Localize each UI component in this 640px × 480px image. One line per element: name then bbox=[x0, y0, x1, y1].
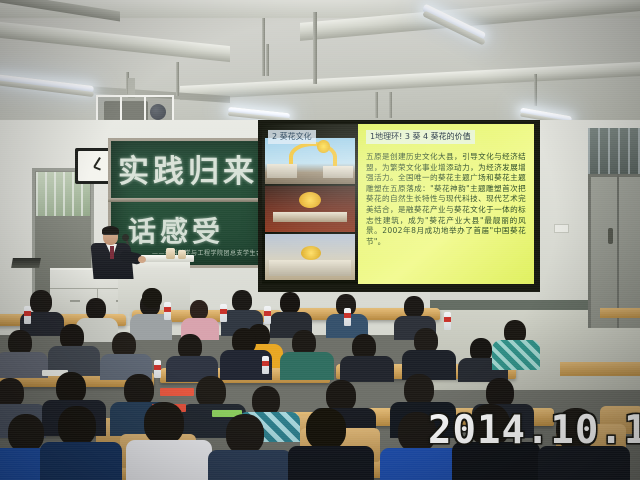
speaker-hand bbox=[138, 256, 146, 263]
slide-photo-1 bbox=[265, 138, 355, 184]
student-head bbox=[190, 300, 208, 320]
slide-photo-3 bbox=[265, 234, 355, 280]
student-torso bbox=[280, 352, 334, 380]
ceiling-rod-g bbox=[176, 62, 179, 96]
student-head bbox=[30, 290, 52, 314]
sunflower-disc-3 bbox=[301, 246, 321, 260]
student-head bbox=[226, 414, 264, 454]
slide-building-1 bbox=[267, 164, 297, 178]
blackboard-subhead: 话感受 bbox=[128, 210, 258, 248]
slide-body-text: 五原是创建历史文化大县，引导文化与经济结盟，为繁荣文化事业增添动力，为经济发展增… bbox=[366, 152, 526, 280]
slide-plinth-2 bbox=[273, 212, 347, 222]
classroom-photo: 实践归来 话感受 ——材料科学与工程学院团总支学生会 2 葵花文化 bbox=[0, 0, 640, 480]
slide-tab-culture: 2 葵花文化 bbox=[268, 130, 316, 144]
student-head bbox=[280, 292, 300, 314]
slide-tab-sections: 1地理环! 3 葵 4 葵花的价值 bbox=[366, 130, 475, 144]
water-bottle-5 bbox=[344, 308, 351, 326]
student-head bbox=[144, 402, 184, 444]
ceiling-rod-c bbox=[313, 12, 317, 84]
right-door-handle[interactable] bbox=[608, 228, 613, 244]
water-bottle-2 bbox=[164, 302, 171, 320]
student-head bbox=[404, 296, 424, 318]
water-bottle-3 bbox=[220, 304, 227, 322]
camera-datestamp: 2014.10.12 bbox=[428, 408, 640, 453]
clock-face bbox=[78, 151, 110, 181]
microphone-icon bbox=[122, 234, 129, 241]
slide-image-column bbox=[262, 124, 358, 284]
student-head bbox=[58, 406, 96, 446]
right-door-transom bbox=[588, 128, 640, 177]
clock-hour-hand bbox=[94, 166, 101, 170]
student-torso bbox=[126, 440, 212, 480]
water-bottle-6 bbox=[444, 312, 451, 330]
student-torso bbox=[208, 450, 292, 480]
light-switch[interactable] bbox=[554, 224, 569, 233]
blackboard-divider bbox=[108, 198, 272, 202]
glasses-icon bbox=[104, 234, 117, 238]
slide-building-2 bbox=[323, 166, 353, 178]
student-head bbox=[142, 288, 162, 308]
desk-laptop bbox=[11, 258, 41, 268]
projection-screen: 2 葵花文化 1地理环! 3 葵 4 葵花的价值 五原是创建历史文化大县，引导文… bbox=[262, 124, 534, 284]
student-torso bbox=[40, 442, 122, 480]
student-head bbox=[86, 298, 106, 320]
blackboard-headline: 实践归来 bbox=[118, 146, 264, 190]
speaker-tie bbox=[110, 246, 114, 259]
water-bottle-7 bbox=[154, 360, 161, 378]
ceiling-rod-d bbox=[375, 92, 378, 118]
water-bottle-8 bbox=[262, 356, 269, 374]
student-torso-plaid bbox=[492, 340, 540, 370]
sunflower-disc-1 bbox=[317, 140, 330, 153]
ceiling-rod-a bbox=[262, 18, 265, 76]
student-head bbox=[306, 408, 346, 450]
sunflower-disc-2 bbox=[299, 192, 321, 208]
ceiling-rod-f bbox=[534, 74, 537, 106]
podium-cup-2 bbox=[178, 250, 186, 259]
textbook-red-2 bbox=[160, 388, 194, 396]
aisle-rail-2 bbox=[560, 362, 640, 376]
water-bottle-1 bbox=[24, 306, 31, 324]
student-head bbox=[232, 290, 252, 312]
ceiling-rod-e bbox=[389, 92, 392, 118]
slide-photo-2 bbox=[265, 186, 355, 232]
ceiling-rod-b bbox=[266, 44, 269, 76]
student-head bbox=[8, 414, 44, 452]
student-torso bbox=[288, 446, 374, 480]
water-bottle-4 bbox=[264, 306, 271, 324]
podium-cup-1 bbox=[166, 248, 175, 259]
slide-building-3 bbox=[269, 260, 351, 276]
aisle-rail-1 bbox=[600, 308, 640, 318]
student-torso bbox=[0, 352, 48, 378]
student-torso bbox=[340, 356, 394, 382]
